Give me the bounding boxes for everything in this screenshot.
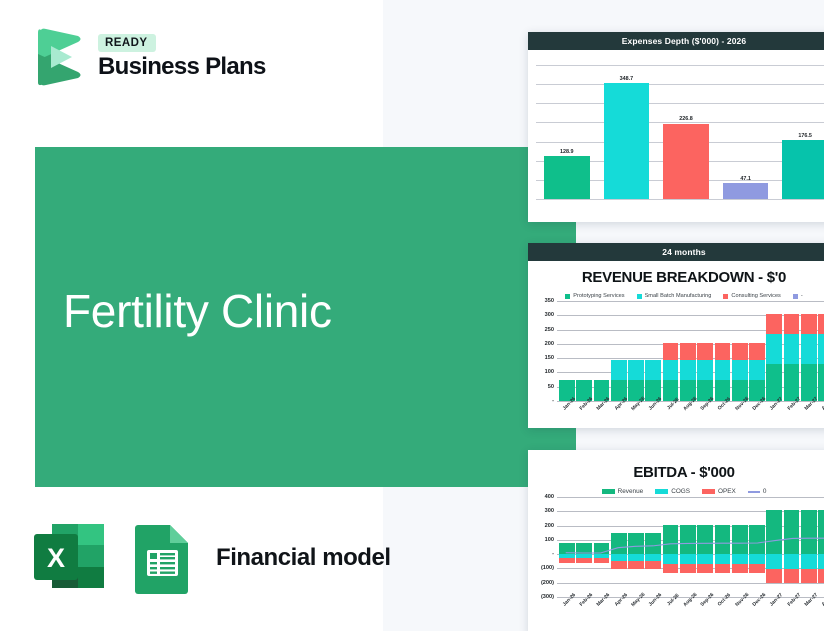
bar: [663, 124, 709, 199]
bar-segment: [680, 360, 696, 380]
bar-column: [594, 301, 610, 401]
bar-segment: [818, 364, 824, 401]
bar-segment: [715, 343, 731, 360]
chart-card-revenue[interactable]: 24 months REVENUE BREAKDOWN - $'0 Protot…: [528, 243, 824, 428]
x-tick: Feb-26: [576, 597, 592, 615]
bar-column: [749, 301, 765, 401]
legend-label: Prototyping Services: [573, 293, 624, 299]
bar-column: [576, 301, 592, 401]
chart-legend-revenue: Prototyping ServicesSmall Batch Manufact…: [528, 288, 824, 301]
x-tick: Mar-27: [801, 401, 817, 419]
y-axis-revenue: 35030025020015010050-: [530, 301, 556, 401]
chart-legend-ebitda: RevenueCOGSOPEX0: [528, 483, 824, 497]
bar-column: [697, 301, 713, 401]
bar-segment: [680, 343, 696, 360]
x-tick: Aug-26: [680, 401, 696, 419]
x-tick: May-26: [628, 401, 644, 419]
y-tick-label: 150: [545, 355, 554, 361]
x-tick: Jan-26: [559, 401, 575, 419]
x-tick: Apr-27: [818, 597, 824, 615]
bar-segment: [766, 334, 782, 364]
bar-value-label: 226.8: [679, 116, 693, 122]
x-tick: Aug-26: [680, 597, 696, 615]
bar-segment: [611, 360, 627, 380]
legend-label: 0: [763, 488, 767, 495]
bar-segment: [697, 360, 713, 380]
x-tick: Jul-26: [663, 597, 679, 615]
plot-area-ebitda: [557, 497, 824, 597]
gridline: [536, 199, 824, 200]
chart-header-revenue: 24 months: [528, 243, 824, 261]
bar-segment: [801, 314, 817, 335]
legend-label: COGS: [671, 488, 690, 495]
y-tick-label: 300: [545, 312, 554, 318]
legend-swatch: [655, 489, 668, 494]
legend-item: Small Batch Manufacturing: [637, 293, 712, 299]
play-triangle-logo-icon: [28, 26, 85, 88]
bar-column: [715, 301, 731, 401]
bar-segment: [784, 334, 800, 364]
legend-swatch: [723, 294, 728, 299]
bar: [782, 140, 824, 199]
x-tick: Nov-26: [732, 597, 748, 615]
bar-column: 128.9: [544, 66, 590, 199]
svg-text:X: X: [47, 543, 65, 573]
bar-value-label: 128.9: [560, 149, 574, 155]
bar-column: 348.7: [604, 66, 650, 199]
legend-label: OPEX: [718, 488, 736, 495]
legend-swatch: [565, 294, 570, 299]
bar-column: 47.1: [723, 66, 769, 199]
legend-label: -: [801, 293, 803, 299]
bar-value-label: 348.7: [620, 76, 634, 82]
y-tick-label: (200): [541, 580, 554, 586]
y-tick-label: -: [552, 551, 554, 557]
y-tick-label: (300): [541, 594, 554, 600]
bar-segment: [628, 360, 644, 380]
legend-item: 0: [748, 488, 767, 495]
bar-value-label: 47.1: [740, 176, 751, 182]
bar-column: [628, 301, 644, 401]
x-tick: Nov-26: [732, 401, 748, 419]
bar-segment: [749, 343, 765, 360]
x-tick: Jun-26: [645, 597, 661, 615]
bar-column: [559, 301, 575, 401]
bar-segment: [715, 360, 731, 380]
bar-segment: [784, 314, 800, 335]
bar-segment: [645, 360, 661, 380]
x-tick: Mar-26: [594, 597, 610, 615]
chart-plot-ebitda: 400300200100-(100)(200)(300) Jan-26Feb-2…: [530, 497, 824, 615]
bar-segment: [818, 334, 824, 364]
x-tick: Feb-26: [576, 401, 592, 419]
x-tick: Apr-26: [611, 597, 627, 615]
bar: [723, 183, 769, 199]
bar-segment: [732, 343, 748, 360]
y-axis-ebitda: 400300200100-(100)(200)(300): [530, 497, 556, 597]
footer-label: Financial model: [216, 544, 391, 572]
x-tick: Sep-26: [697, 597, 713, 615]
brand-text-group: READY Business Plans: [98, 34, 266, 79]
x-tick: Feb-27: [784, 401, 800, 419]
x-tick: Sep-26: [697, 401, 713, 419]
y-tick-label: 100: [545, 369, 554, 375]
y-tick-label: 400: [545, 494, 554, 500]
x-tick: Jan-26: [559, 597, 575, 615]
microsoft-excel-icon: X: [30, 522, 114, 594]
bar-column: [784, 301, 800, 401]
legend-label: Consulting Services: [731, 293, 780, 299]
brand-block: READY Business Plans: [28, 26, 266, 88]
legend-swatch: [793, 294, 798, 299]
legend-item: COGS: [655, 488, 690, 495]
legend-item: Prototyping Services: [565, 293, 624, 299]
x-tick: Oct-26: [715, 401, 731, 419]
bar-column: [680, 301, 696, 401]
x-tick: Mar-26: [594, 401, 610, 419]
x-tick: Apr-27: [818, 401, 824, 419]
legend-label: Small Batch Manufacturing: [645, 293, 712, 299]
legend-item: -: [793, 293, 803, 299]
chart-title-ebitda: EBITDA - $'000: [528, 450, 824, 483]
legend-swatch: [748, 491, 760, 493]
x-tick: Oct-26: [715, 597, 731, 615]
bar-segment: [732, 360, 748, 380]
chart-title-revenue: REVENUE BREAKDOWN - $'0: [528, 261, 824, 288]
bar-segment: [766, 314, 782, 335]
bar-series: [557, 301, 824, 401]
chart-header-expenses: Expenses Depth ($'000) - 2026: [528, 32, 824, 50]
legend-swatch: [602, 489, 615, 494]
bar-segment: [663, 343, 679, 360]
bar: [544, 156, 590, 199]
x-tick: Jan-27: [766, 597, 782, 615]
chart-plot-expenses: 128.9348.7226.847.1176.5: [536, 52, 824, 200]
legend-swatch: [702, 489, 715, 494]
x-tick: Jul-26: [663, 401, 679, 419]
ready-badge: READY: [98, 34, 156, 52]
x-tick: Jun-26: [645, 401, 661, 419]
brand-name: Business Plans: [98, 54, 266, 79]
y-tick-label: 200: [545, 341, 554, 347]
x-tick: Apr-26: [611, 401, 627, 419]
bar-column: 226.8: [663, 66, 709, 199]
bar-series-expenses: 128.9348.7226.847.1176.5: [544, 66, 824, 199]
y-tick-label: 200: [545, 523, 554, 529]
bar-column: [818, 301, 824, 401]
bar-column: 176.5: [782, 66, 824, 199]
bar-segment: [801, 334, 817, 364]
x-tick: Mar-27: [801, 597, 817, 615]
chart-plot-revenue: 35030025020015010050- Jan-26Feb-26Mar-26…: [530, 301, 824, 419]
legend-item: OPEX: [702, 488, 736, 495]
bar-column: [611, 301, 627, 401]
x-tick: Dec-26: [749, 401, 765, 419]
plot-area-revenue: [557, 301, 824, 401]
bar-segment: [663, 360, 679, 380]
y-tick-label: 50: [548, 384, 554, 390]
slide-canvas: READY Business Plans Fertility Clinic X: [0, 0, 824, 631]
footer-block: X Financial model: [30, 522, 391, 594]
google-sheets-icon: [132, 522, 194, 594]
chart-card-ebitda[interactable]: EBITDA - $'000 RevenueCOGSOPEX0 40030020…: [528, 450, 824, 631]
y-tick-label: 250: [545, 327, 554, 333]
bar-segment: [749, 360, 765, 380]
zero-trend-line: [557, 497, 824, 597]
y-tick-label: 300: [545, 508, 554, 514]
chart-card-expenses[interactable]: Expenses Depth ($'000) - 2026 128.9348.7…: [528, 32, 824, 222]
x-tick: Dec-26: [749, 597, 765, 615]
legend-item: Consulting Services: [723, 293, 780, 299]
legend-swatch: [637, 294, 642, 299]
x-tick: May-26: [628, 597, 644, 615]
y-tick-label: -: [552, 398, 554, 404]
bar-segment: [818, 314, 824, 335]
legend-label: Revenue: [618, 488, 644, 495]
x-tick: Feb-27: [784, 597, 800, 615]
page-title: Fertility Clinic: [63, 288, 332, 334]
bar-column: [663, 301, 679, 401]
bar-column: [766, 301, 782, 401]
bar-segment: [697, 343, 713, 360]
y-tick-label: 350: [545, 298, 554, 304]
bar-column: [801, 301, 817, 401]
y-tick-label: (100): [541, 565, 554, 571]
y-tick-label: 100: [545, 537, 554, 543]
x-tick: Jan-27: [766, 401, 782, 419]
bar-column: [645, 301, 661, 401]
x-axis-ebitda: Jan-26Feb-26Mar-26Apr-26May-26Jun-26Jul-…: [557, 597, 824, 615]
x-axis-revenue: Jan-26Feb-26Mar-26Apr-26May-26Jun-26Jul-…: [557, 401, 824, 419]
bar-value-label: 176.5: [798, 133, 812, 139]
bar: [604, 83, 650, 199]
bar-column: [732, 301, 748, 401]
legend-item: Revenue: [602, 488, 644, 495]
